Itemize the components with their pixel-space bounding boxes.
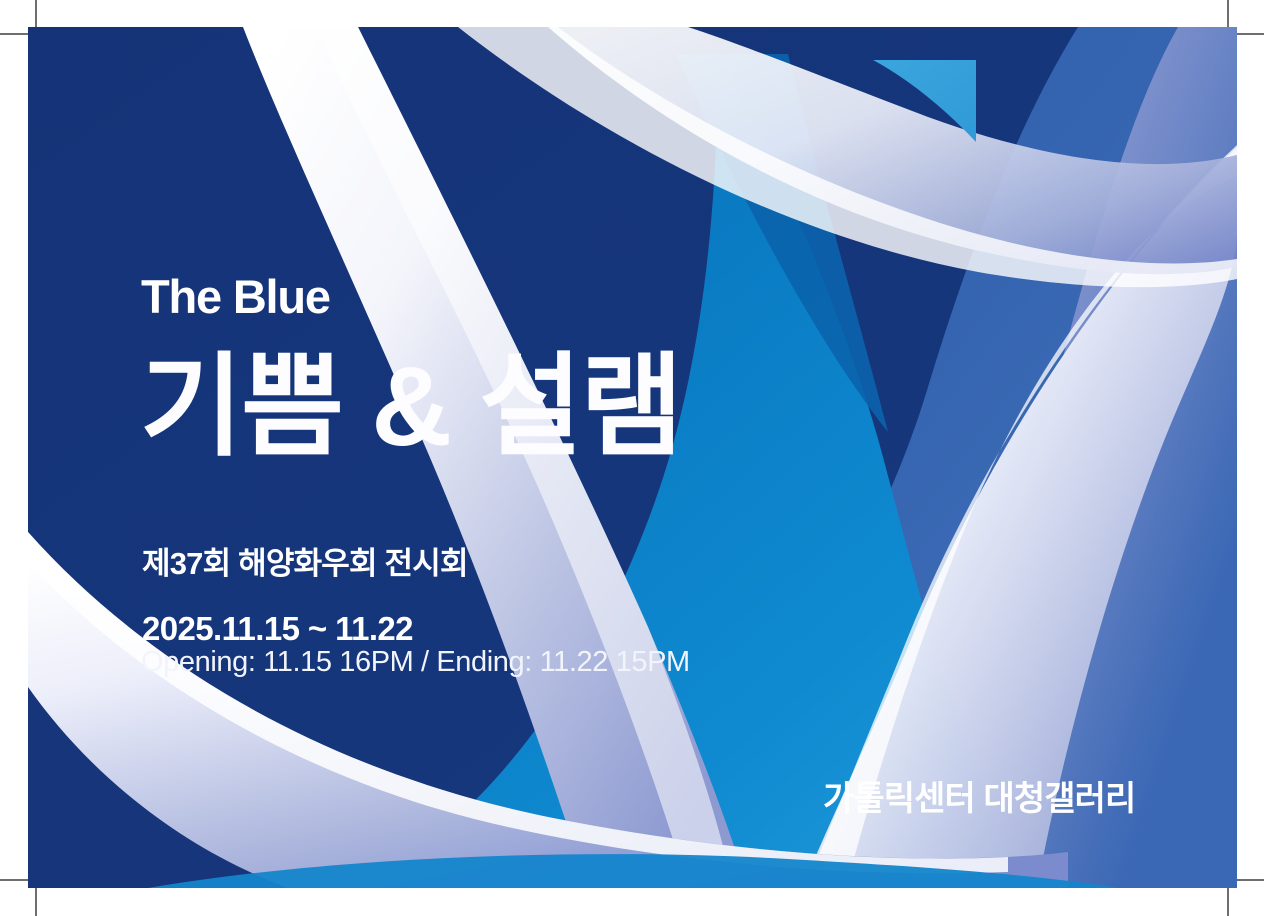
poster-kicker: The Blue (141, 273, 330, 320)
poster-times: Opening: 11.15 16PM / Ending: 11.22 15PM (141, 648, 690, 677)
poster-artwork: The Blue 기쁨 & 설램 제37회 해양화우회 전시회 2025.11.… (28, 27, 1237, 888)
poster-subtitle: 제37회 해양화우회 전시회 (142, 548, 468, 579)
poster-headline: 기쁨 & 설램 (140, 344, 681, 469)
poster-venue: 가톨릭센터 대청갤러리 (823, 782, 1135, 816)
poster-dates: 2025.11.15 ~ 11.22 (142, 612, 413, 645)
poster-canvas: The Blue 기쁨 & 설램 제37회 해양화우회 전시회 2025.11.… (0, 0, 1264, 916)
